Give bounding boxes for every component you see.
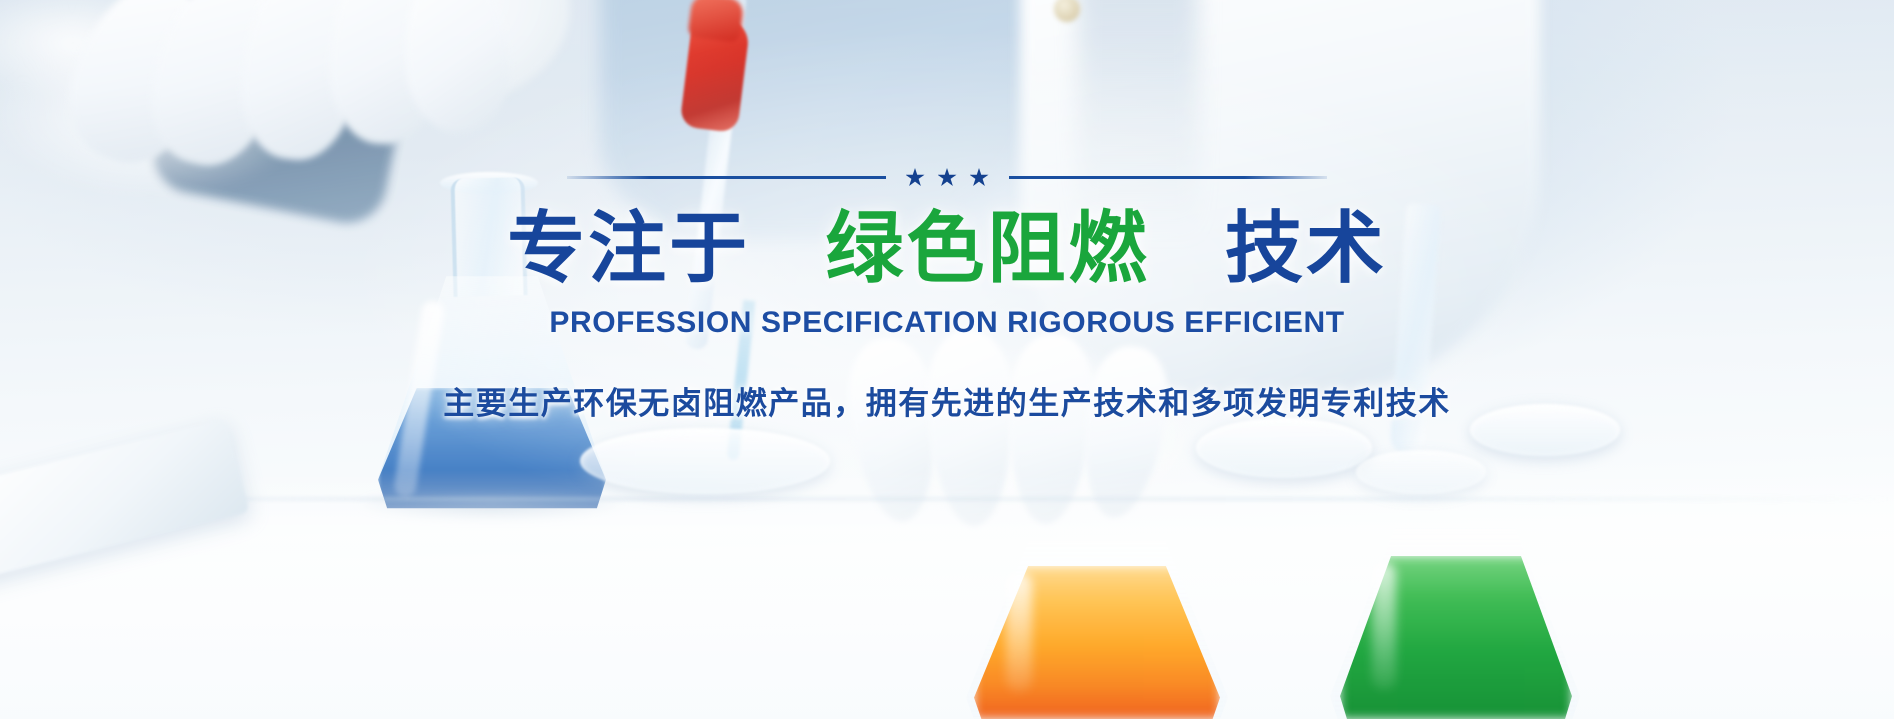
star-group [900, 168, 995, 187]
star-icon [970, 168, 989, 187]
headline-part-3: 技术 [1225, 204, 1387, 292]
hero-banner: 专注于 绿色阻燃 技术 PROFESSION SPECIFICATION RIG… [0, 0, 1894, 719]
headline-part-2: 绿色阻燃 [825, 204, 1149, 292]
headline-part-1: 专注于 [507, 204, 750, 292]
star-icon [906, 168, 925, 187]
divider-line-right [1009, 176, 1328, 179]
star-icon [938, 168, 957, 187]
decorative-divider [567, 168, 1327, 187]
banner-content: 专注于 绿色阻燃 技术 PROFESSION SPECIFICATION RIG… [0, 0, 1894, 719]
tagline: 主要生产环保无卤阻燃产品，拥有先进的生产技术和多项发明专利技术 [443, 378, 1451, 423]
subtitle-english: PROFESSION SPECIFICATION RIGOROUS EFFICI… [549, 306, 1344, 340]
page-title: 专注于 绿色阻燃 技术 [507, 205, 1387, 292]
divider-line-left [567, 176, 886, 179]
